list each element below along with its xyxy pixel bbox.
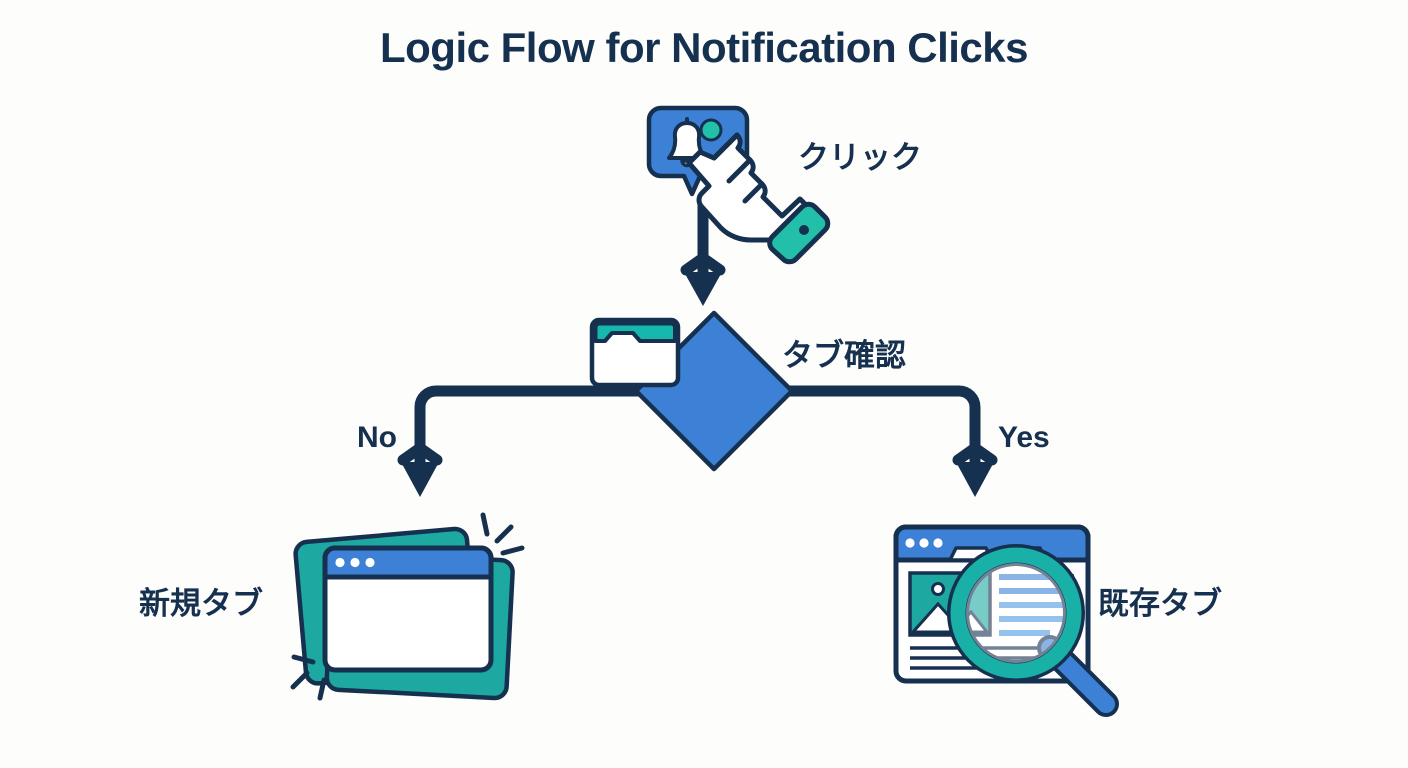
node-existing-tab[interactable] xyxy=(896,527,1106,704)
edge-label-no: No xyxy=(357,421,397,455)
edge-label-yes: Yes xyxy=(998,421,1050,455)
foreground-window-icon xyxy=(325,548,491,670)
window-control-dots-icon xyxy=(335,558,374,567)
window-control-dots-icon xyxy=(905,538,942,547)
diagram-canvas: Logic Flow for Notification Clicks xyxy=(0,0,1408,768)
edge-decision-no xyxy=(401,391,640,497)
browser-window-with-magnifier-icon xyxy=(896,527,1106,704)
notification-badge-dot-icon xyxy=(701,120,721,140)
node-label-notification-click: クリック xyxy=(798,132,922,177)
node-label-tab-check: タブ確認 xyxy=(782,330,906,375)
node-new-tab[interactable] xyxy=(293,515,522,699)
node-label-new-tab: 新規タブ xyxy=(139,578,263,623)
flow-diagram-graphic xyxy=(0,0,1408,768)
node-label-existing-tab: 既存タブ xyxy=(1098,578,1222,623)
folder-tab-icon xyxy=(592,320,678,385)
edge-decision-yes xyxy=(788,391,994,497)
sparkle-lines-icon xyxy=(483,515,522,553)
